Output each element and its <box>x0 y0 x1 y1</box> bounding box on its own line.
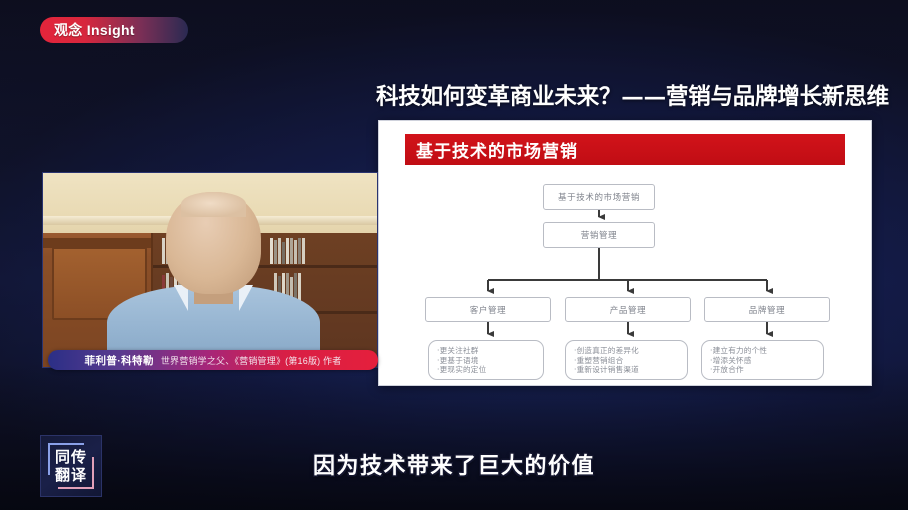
flow-bullets-product: ·创造真正的差异化 ·重塑营销组合 ·重新设计销售渠道 <box>565 340 688 380</box>
bullet-item: ·更基于语境 <box>437 356 543 366</box>
bullet-item: ·建立有力的个性 <box>710 346 823 356</box>
bullet-item: ·更现实的定位 <box>437 365 543 375</box>
flowchart: 基于技术的市场营销 营销管理 客户管理 产品管理 品牌管理 ·更关注社群 ·更基… <box>379 121 873 387</box>
flow-node-product-management: 产品管理 <box>565 297 691 322</box>
speaker-head <box>166 192 261 293</box>
bullet-item: ·创造真正的差异化 <box>574 346 687 356</box>
speaker-hairline <box>181 192 246 216</box>
broadcast-stage: 观念 Insight 科技如何变革商业未来？——营销与品牌增长新思维 基于技术的… <box>0 0 908 510</box>
subtitle-caption: 因为技术带来了巨大的价值 <box>0 448 908 480</box>
flow-bullets-brand: ·建立有力的个性 ·增添关怀感 ·开放合作 <box>701 340 824 380</box>
bullet-item: ·重塑营销组合 <box>574 356 687 366</box>
insight-badge-label: 观念 Insight <box>54 20 135 40</box>
flow-node-brand-management: 品牌管理 <box>704 297 830 322</box>
books-row <box>270 238 364 263</box>
speaker-description: 世界营销学之父、《营销管理》(第16版) 作者 <box>161 354 342 367</box>
presentation-title: 科技如何变革商业未来？——营销与品牌增长新思维 <box>376 78 878 112</box>
bullet-item: ·增添关怀感 <box>710 356 823 366</box>
bullet-item: ·开放合作 <box>710 365 823 375</box>
insight-badge: 观念 Insight <box>40 17 188 43</box>
bullet-item: ·重新设计销售渠道 <box>574 365 687 375</box>
flow-node-marketing-management: 营销管理 <box>543 222 655 248</box>
flow-node-root: 基于技术的市场营销 <box>543 184 655 210</box>
slide-panel: 基于技术的市场营销 <box>378 120 872 386</box>
speaker-name-banner: 菲利普·科特勒 世界营销学之父、《营销管理》(第16版) 作者 <box>48 350 378 370</box>
speaker-name: 菲利普·科特勒 <box>85 353 154 368</box>
flow-bullets-customer: ·更关注社群 ·更基于语境 ·更现实的定位 <box>428 340 544 380</box>
speaker-video-tile[interactable] <box>42 172 378 368</box>
speaker-collar-right <box>239 285 253 311</box>
bullet-item: ·更关注社群 <box>437 346 543 356</box>
flow-node-customer-management: 客户管理 <box>425 297 551 322</box>
speaker-figure <box>143 192 283 367</box>
